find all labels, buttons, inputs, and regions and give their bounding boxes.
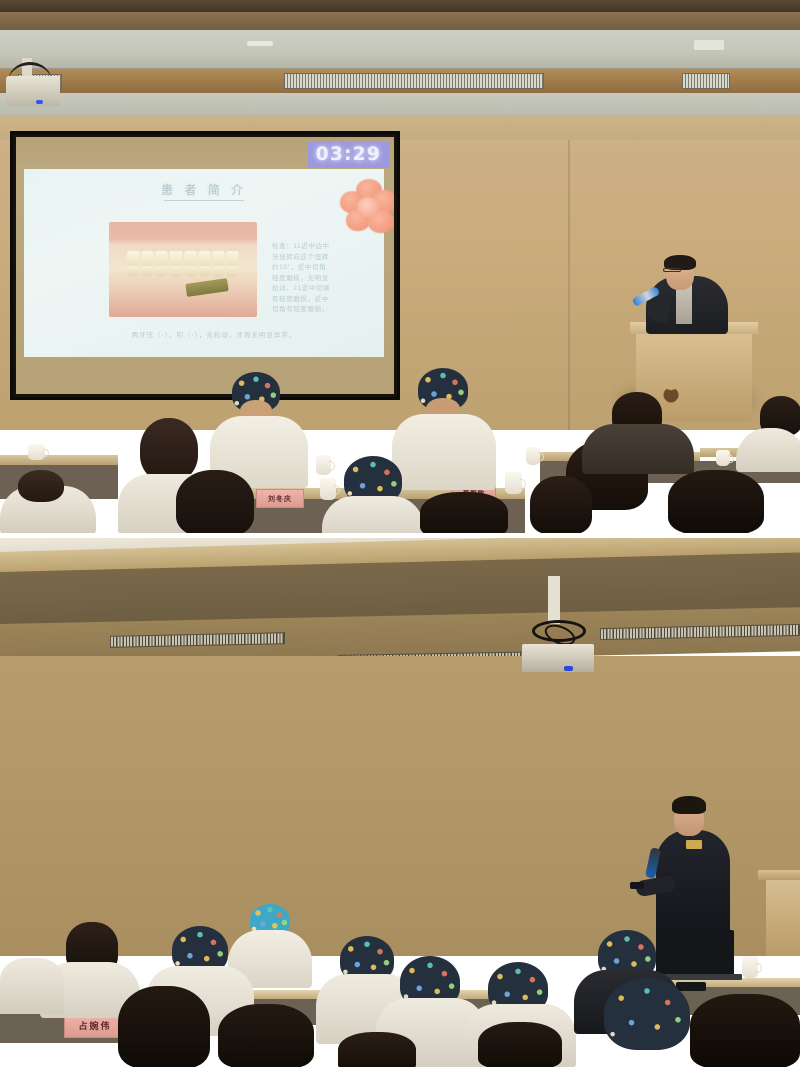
side-podium xyxy=(766,878,800,956)
slide-body-text: 检查：11近中边中牙扭转向这个扭转约15°，近中切角轻度磨损，无明显松动，21近… xyxy=(272,242,332,316)
ceiling-projector xyxy=(6,76,60,106)
attendee-hair xyxy=(420,492,508,533)
attendee-jacket xyxy=(582,424,694,474)
top-photograph: 03:29 患 者 简 介 xyxy=(0,0,800,533)
projector-led-icon xyxy=(36,100,43,104)
upper-teeth xyxy=(127,251,239,266)
attendee-hair xyxy=(140,418,198,482)
slide-title: 患 者 简 介 xyxy=(24,181,384,198)
ceiling-light-right xyxy=(694,40,724,50)
attendee-coat xyxy=(0,958,64,1014)
bottom-photograph: 00:24 治疗中途 2020.04.04 xyxy=(0,538,800,1067)
projection-screen-top: 03:29 患 者 简 介 xyxy=(10,131,400,400)
countdown-timer-top: 03:29 xyxy=(308,142,389,168)
side-podium-top xyxy=(758,870,800,880)
mug xyxy=(742,956,758,978)
mug xyxy=(716,450,730,466)
lotus-flower-icon xyxy=(338,177,394,239)
attendee-coat xyxy=(392,414,496,490)
presenter-badge xyxy=(686,840,702,849)
lower-teeth xyxy=(127,266,239,277)
table xyxy=(0,455,118,465)
attendee-hair xyxy=(176,470,254,533)
presenter-hair xyxy=(672,796,706,814)
mug xyxy=(28,444,45,460)
attendee-coat xyxy=(322,496,424,533)
ceiling-projector xyxy=(522,644,594,672)
attendee-hair xyxy=(530,476,592,533)
laptop[interactable] xyxy=(656,930,734,976)
mug xyxy=(505,472,522,494)
intraoral-photo-frontal xyxy=(109,222,257,317)
surgical-cap xyxy=(604,978,690,1050)
ceiling-panel xyxy=(0,30,800,70)
projected-slide-surface: 03:29 患 者 简 介 xyxy=(16,137,394,394)
mug xyxy=(320,478,336,500)
presenter-remote-icon xyxy=(630,882,644,889)
mug xyxy=(316,455,331,475)
nameplate: 刘冬庆 xyxy=(256,489,304,508)
attendee-hair xyxy=(668,470,764,533)
air-vent xyxy=(682,73,730,89)
eyeglasses-icon xyxy=(663,268,681,272)
dental-retractor xyxy=(185,278,228,297)
slide-canvas: 患 者 简 介 xyxy=(24,169,384,357)
slide-footer-text: 两牙压（-）、叩（-），无松动，牙周无明显异常。 xyxy=(84,329,344,339)
ceiling-light xyxy=(247,41,273,46)
attendee-hair xyxy=(118,986,210,1067)
attendee-hair xyxy=(478,1022,562,1067)
attendee-hair xyxy=(338,1032,416,1067)
air-vent xyxy=(284,73,544,89)
attendee-hair xyxy=(690,994,800,1067)
screenshot-root: 03:29 患 者 简 介 xyxy=(0,0,800,1067)
attendee-hair xyxy=(218,1004,314,1067)
ceiling-lower-panel xyxy=(0,93,800,117)
attendee-coat xyxy=(736,428,800,472)
mug xyxy=(526,447,540,465)
attendee-hair xyxy=(18,470,64,502)
wall-seam xyxy=(568,140,570,430)
slide-title-underline xyxy=(164,200,244,201)
projector-led-icon xyxy=(564,666,573,671)
